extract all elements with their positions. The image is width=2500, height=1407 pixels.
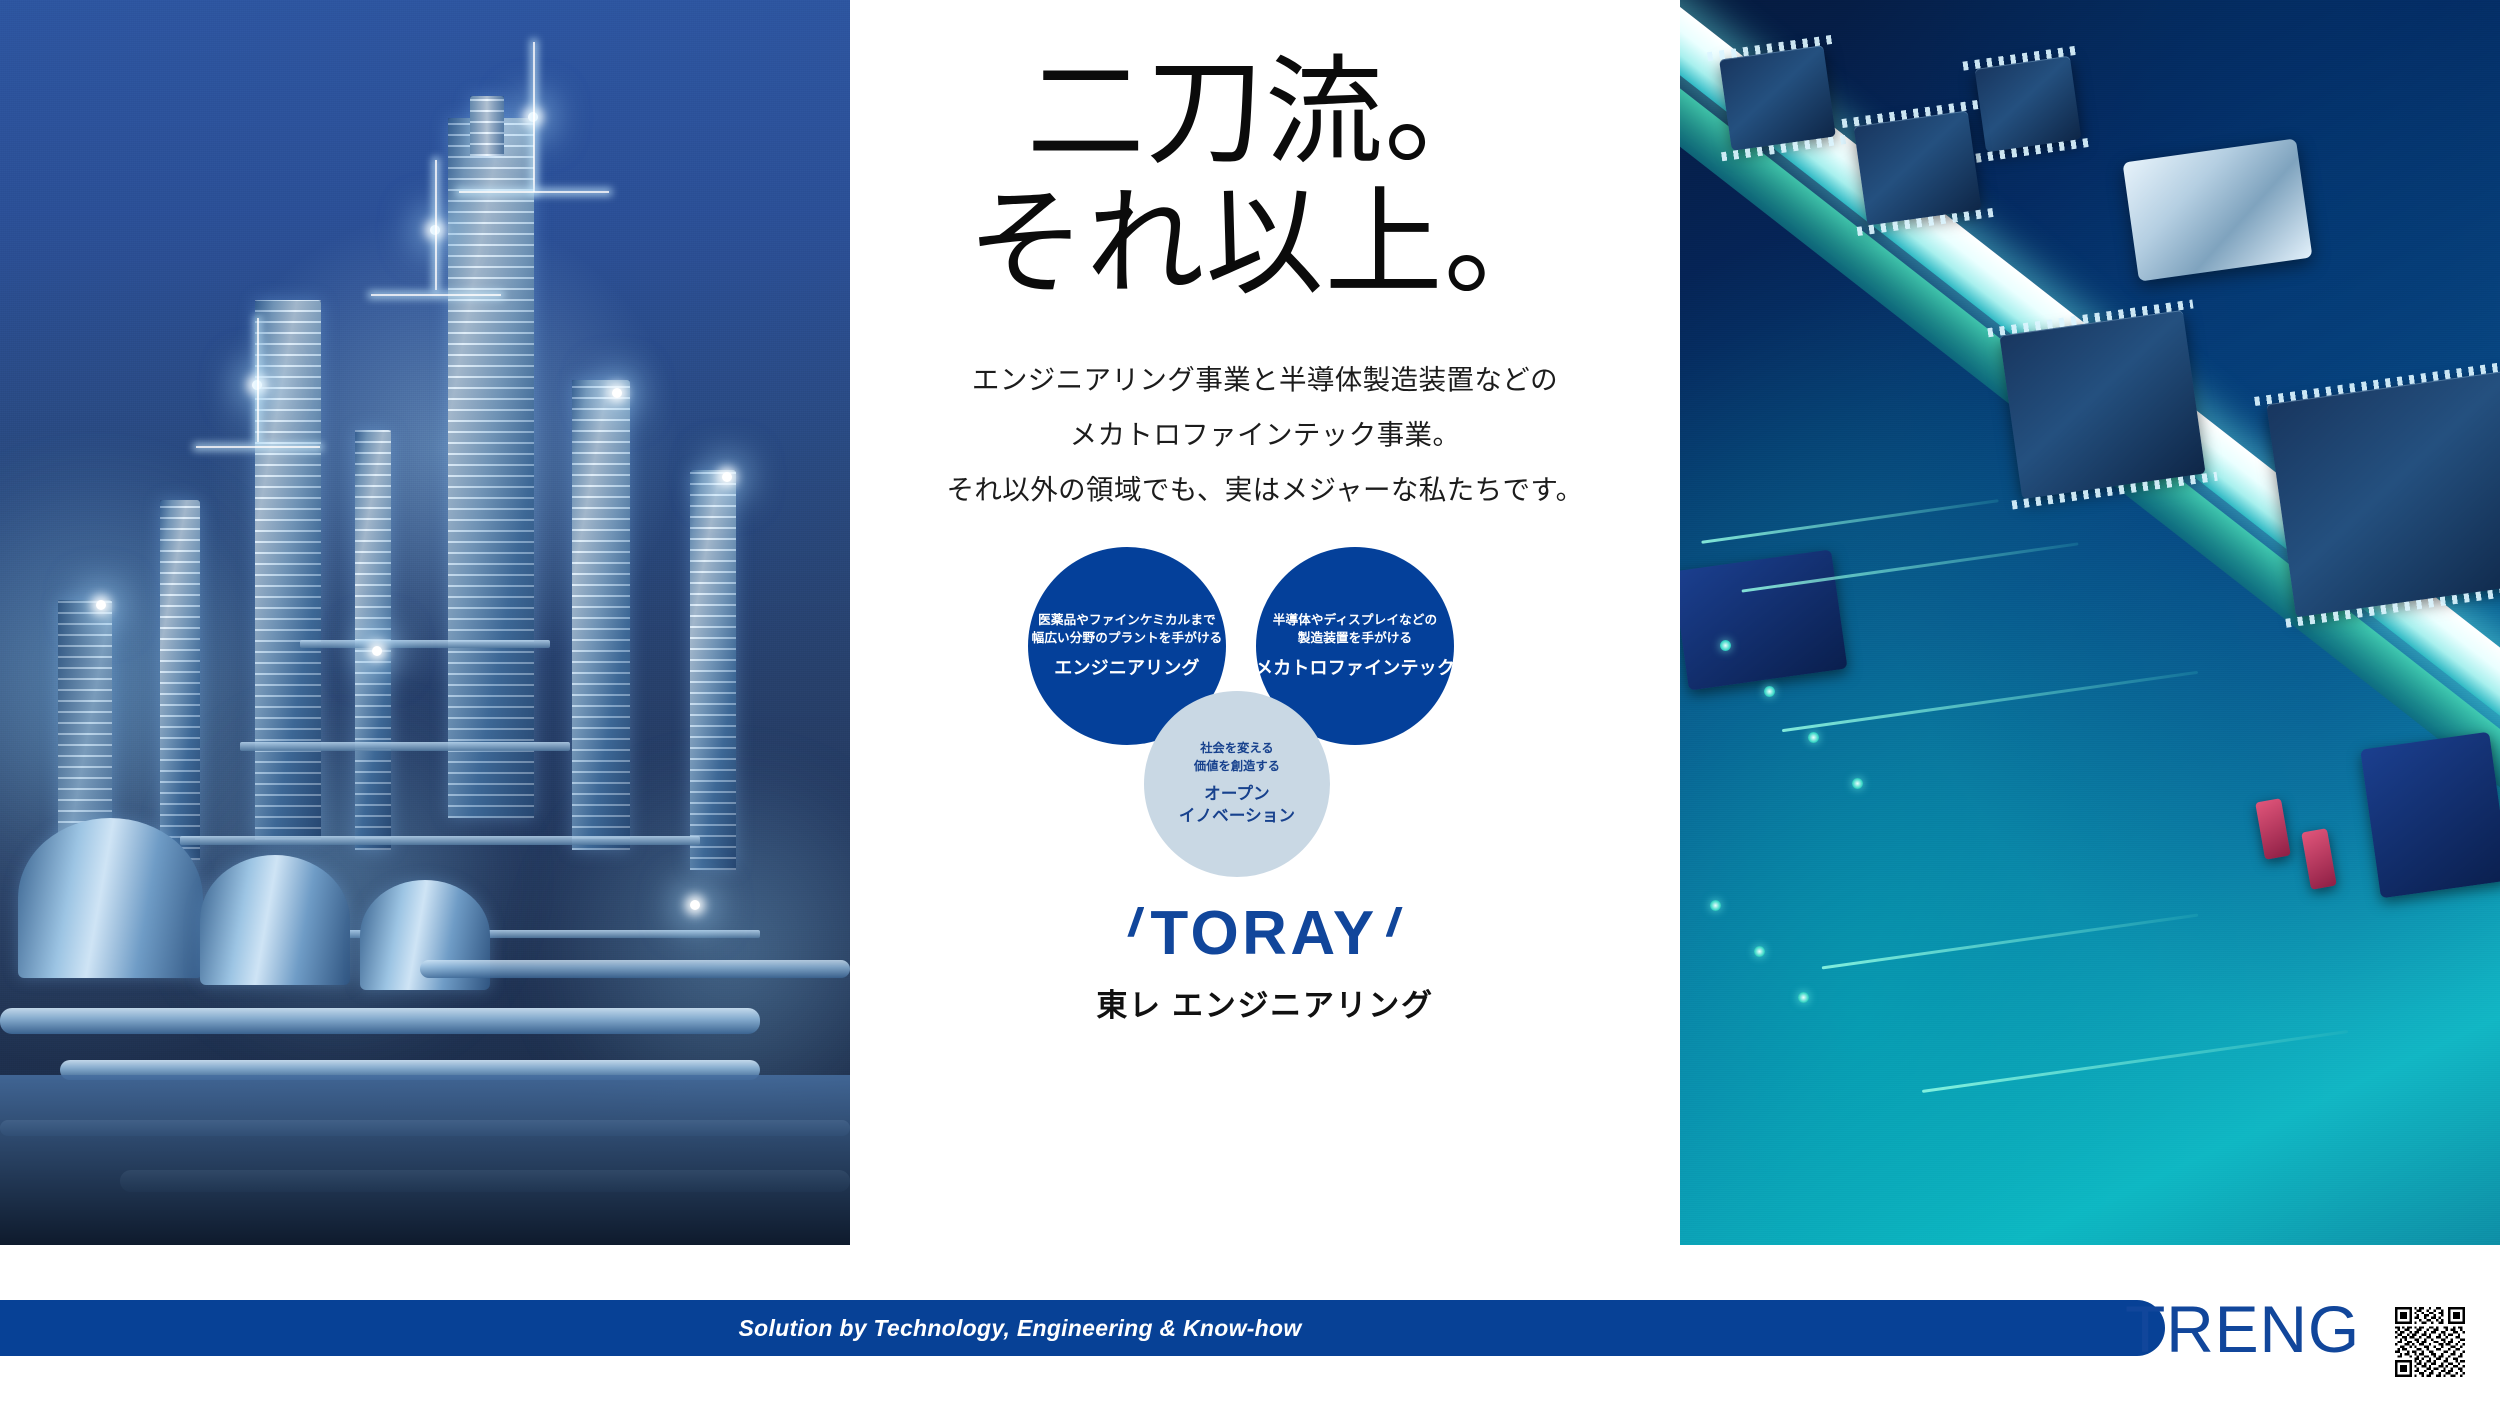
venn-open-innovation-title-line-2: イノベーション (1179, 807, 1295, 825)
solder-pad (1720, 640, 1731, 651)
body-copy-line-3: それ以外の領域でも、実はメジャーな私たちです。 (946, 462, 1583, 517)
flood-light (612, 388, 622, 398)
pipe-run (420, 960, 850, 978)
toray-wordmark: TORAY (1150, 905, 1377, 964)
distillation-tower (572, 380, 630, 850)
light-flare (435, 160, 437, 290)
qr-code-icon (2395, 1307, 2465, 1377)
flood-light (372, 646, 382, 656)
plant-night-photo (0, 0, 850, 1245)
toray-slash-right-icon (1386, 907, 1403, 937)
flood-light (96, 600, 106, 610)
solder-pad (1710, 900, 1721, 911)
connector-block (2360, 732, 2500, 899)
flood-light (722, 472, 732, 482)
venn-mechatro-sub-line-1: 半導体やディスプレイなどの (1273, 613, 1437, 627)
flood-light (690, 900, 700, 910)
ad-canvas: 二刀流。 それ以上。 エンジニアリング事業と半導体製造装置などの メカトロファイ… (0, 0, 2500, 1407)
distillation-tower (160, 500, 200, 860)
footer-tagline: Solution by Technology, Engineering & Kn… (0, 1300, 2040, 1356)
venn-engineering-subtext: 医薬品やファインケミカルまで 幅広い分野のプラントを手がける (1032, 612, 1223, 648)
distillation-tower (255, 300, 321, 840)
body-copy: エンジニアリング事業と半導体製造装置などの メカトロファインテック事業。 それ以… (946, 352, 1583, 517)
venn-mechatro-subtext: 半導体やディスプレイなどの 製造装置を手がける (1273, 612, 1437, 648)
venn-open-innovation-title-line-1: オープン (1204, 785, 1270, 803)
solder-pad (1798, 992, 1809, 1003)
light-flare (459, 191, 609, 193)
venn-engineering-sub-line-1: 医薬品やファインケミカルまで (1038, 613, 1216, 627)
headline-line-2: それ以上。 (967, 177, 1563, 314)
venn-open-innovation-sub-line-2: 価値を創造する (1194, 759, 1280, 773)
circuit-board-photo (1680, 0, 2500, 1245)
solder-pad (1754, 946, 1765, 957)
catwalk (240, 742, 570, 751)
light-flare (196, 446, 320, 448)
ic-chip (1719, 45, 1836, 151)
headline: 二刀流。 それ以上。 (967, 46, 1563, 314)
ic-chip-large (2266, 370, 2500, 618)
toray-logo: TORAY 東レ エンジニアリング (1096, 905, 1433, 1025)
venn-engineering-sub-line-2: 幅広い分野のプラントを手がける (1032, 631, 1223, 645)
ground-structures (0, 1075, 850, 1245)
headline-line-1: 二刀流。 (967, 46, 1563, 183)
venn-diagram: 医薬品やファインケミカルまで 幅広い分野のプラントを手がける エンジニアリング … (850, 539, 1680, 899)
catwalk (300, 640, 550, 648)
venn-open-innovation-sub-line-1: 社会を変える (1200, 741, 1274, 755)
main-stack (448, 118, 534, 818)
stack-cap (470, 96, 504, 156)
body-copy-line-1: エンジニアリング事業と半導体製造装置などの (946, 352, 1583, 407)
venn-open-innovation-subtext: 社会を変える 価値を創造する (1194, 740, 1280, 775)
qr-code[interactable] (2392, 1304, 2474, 1386)
pipe-run (0, 1008, 760, 1034)
solder-pad (1764, 686, 1775, 697)
toray-slash-left-icon (1127, 907, 1144, 937)
venn-engineering-title: エンジニアリング (1054, 657, 1199, 680)
solder-pad (1808, 732, 1819, 743)
body-copy-line-2: メカトロファインテック事業。 (946, 407, 1583, 462)
treng-logo: TRENG (2125, 1296, 2360, 1362)
metal-can-component (2123, 138, 2313, 281)
catwalk (180, 836, 700, 845)
venn-mechatro-sub-line-2: 製造装置を手がける (1298, 631, 1412, 645)
connector-block (1680, 549, 1848, 690)
light-flare (533, 42, 535, 192)
storage-tank (200, 855, 350, 985)
ic-chip (1975, 56, 2082, 153)
footer-bar: Solution by Technology, Engineering & Kn… (0, 1300, 2165, 1356)
ic-chip (1999, 310, 2205, 499)
ic-chip (1854, 110, 1982, 225)
center-content-panel: 二刀流。 それ以上。 エンジニアリング事業と半導体製造装置などの メカトロファイ… (850, 0, 1680, 1245)
venn-open-innovation-title: オープン イノベーション (1179, 784, 1295, 827)
distillation-tower (690, 470, 736, 870)
toray-subtitle: 東レ エンジニアリング (1096, 980, 1433, 1025)
toray-wordmark-group: TORAY (1127, 905, 1402, 964)
light-flare (371, 294, 501, 296)
venn-mechatro-title: メカトロファインテック (1255, 657, 1455, 680)
venn-circle-open-innovation: 社会を変える 価値を創造する オープン イノベーション (1144, 691, 1330, 877)
light-flare (257, 318, 259, 442)
storage-tank (18, 818, 203, 978)
solder-pad (1852, 778, 1863, 789)
